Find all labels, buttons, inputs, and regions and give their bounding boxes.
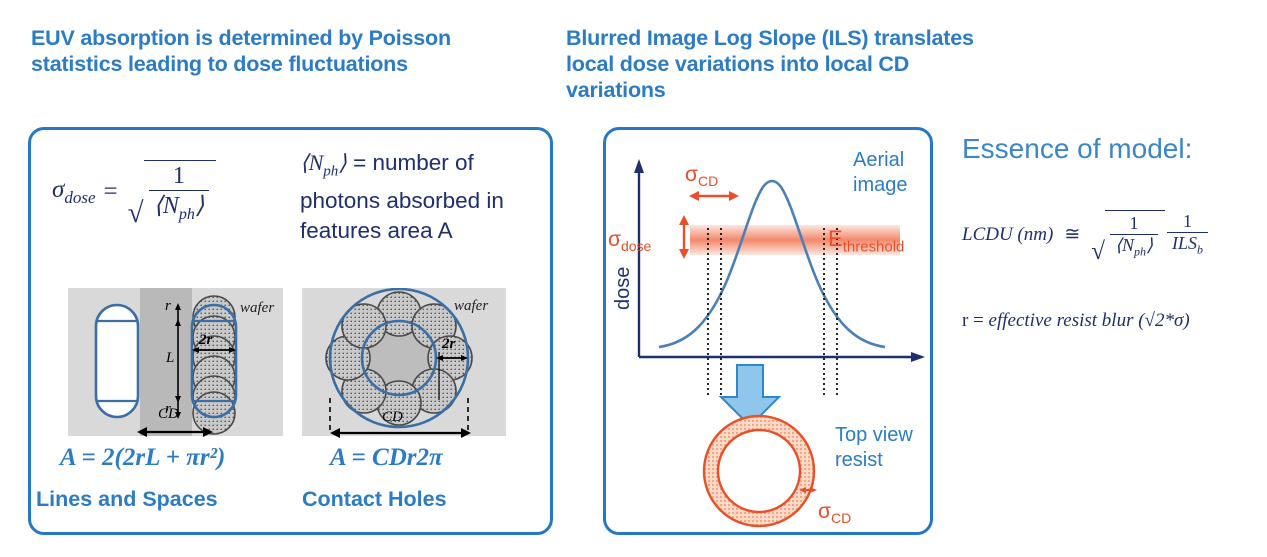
sigma-dose-equation: σdose = √ 1 ⟨Nph⟩ xyxy=(52,160,216,224)
resist-ring-top-view xyxy=(700,412,818,530)
blur-note-definition: effective resist blur (√2*σ) xyxy=(989,310,1190,331)
radical-sign: √ xyxy=(128,199,144,228)
congruent-sign: ≅ xyxy=(1064,223,1080,246)
blur-note-prefix: r = xyxy=(962,310,989,331)
fraction-one-over-ils: 1 ILSb xyxy=(1167,211,1208,258)
nph-definition-text: ⟨Nph⟩ = number of photons absorbed in fe… xyxy=(300,148,540,246)
equals-sign: = xyxy=(104,178,118,206)
nph-symbol: ⟨Nph⟩ xyxy=(300,150,347,175)
e-threshold-label: Ethreshold xyxy=(828,226,904,255)
lcdu-square-root: √ 1 ⟨Nph⟩ xyxy=(1091,210,1165,260)
sigma-dose-lhs: σdose xyxy=(52,176,96,208)
lcdu-equation: LCDU (nm) ≅ √ 1 ⟨Nph⟩ 1 ILSb xyxy=(962,210,1208,260)
fraction-one-over-nph-lcdu: 1 ⟨Nph⟩ xyxy=(1110,213,1158,260)
label-2r-holes: 2r xyxy=(442,336,455,353)
label-L: L xyxy=(166,350,174,367)
heading-middle-section: Blurred Image Log Slope (ILS) translates… xyxy=(566,25,986,103)
fraction-one-over-nph: 1 ⟨Nph⟩ xyxy=(149,163,210,224)
contact-holes-wafer-box: wafer 2r xyxy=(302,288,506,436)
area-formula-lines: A = 2(2rL + πr²) xyxy=(60,444,225,472)
caption-lines-and-spaces: Lines and Spaces xyxy=(36,487,218,512)
lcdu-frac1-num: 1 xyxy=(1125,213,1144,234)
radicand: 1 ⟨Nph⟩ xyxy=(144,160,217,224)
label-CD-holes: CD xyxy=(382,409,403,426)
sigma-cd-top-label: σCD xyxy=(685,163,718,189)
label-CD-lines: CD xyxy=(158,406,179,423)
cd-arrow-holes xyxy=(328,425,473,441)
caption-contact-holes: Contact Holes xyxy=(302,487,447,512)
lcdu-radical-sign: √ xyxy=(1091,239,1105,264)
lcdu-lhs: LCDU (nm) xyxy=(962,224,1053,246)
wafer-label-holes: wafer xyxy=(454,298,488,315)
aerial-image-label: Aerial image xyxy=(853,148,923,198)
area-formula-holes: A = CDr2π xyxy=(330,444,443,472)
fraction-numerator: 1 xyxy=(168,163,190,190)
label-2r-lines: 2r xyxy=(199,332,212,349)
essence-of-model-title: Essence of model: xyxy=(962,133,1192,165)
square-root-group: √ 1 ⟨Nph⟩ xyxy=(128,160,217,224)
sigma-cd-ring-label: σCD xyxy=(818,500,851,526)
resist-blur-note: r = effective resist blur (√2*σ) xyxy=(962,310,1190,332)
lcdu-frac2-den: ILSb xyxy=(1167,232,1208,258)
label-r-top: r xyxy=(165,298,171,315)
y-axis-label-dose: dose xyxy=(612,267,635,310)
cd-arrow-lines xyxy=(135,424,215,440)
sigma-dose-label: σdose xyxy=(608,228,651,254)
lcdu-radicand: 1 ⟨Nph⟩ xyxy=(1105,210,1165,260)
lcdu-frac2-num: 1 xyxy=(1178,211,1197,232)
fraction-denominator: ⟨Nph⟩ xyxy=(149,190,210,224)
heading-left-section: EUV absorption is determined by Poisson … xyxy=(31,25,531,77)
lcdu-frac1-den: ⟨Nph⟩ xyxy=(1110,234,1158,260)
top-view-resist-label: Top view resist xyxy=(835,423,925,473)
wafer-label-lines: wafer xyxy=(240,300,274,317)
